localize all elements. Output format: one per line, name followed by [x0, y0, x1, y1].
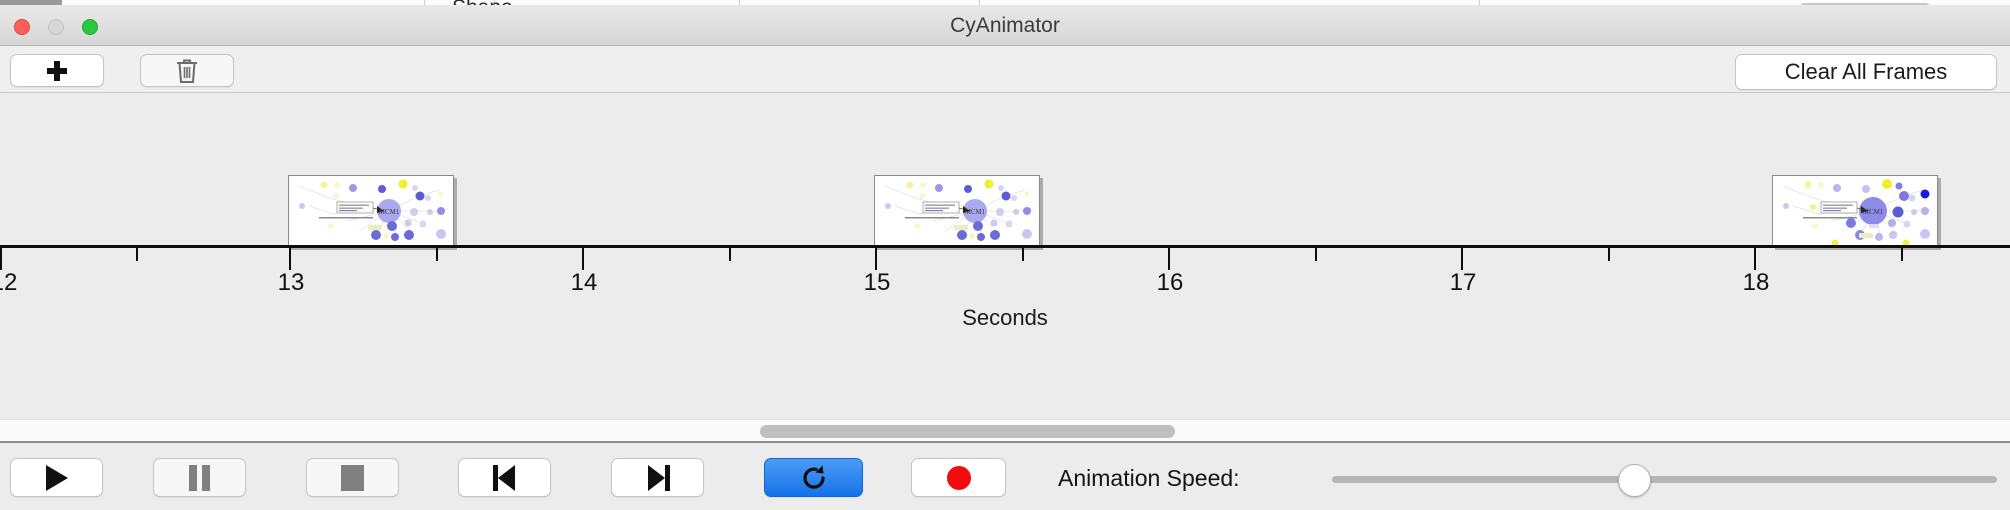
axis-major-tick	[1754, 248, 1756, 270]
skip-end-icon	[646, 465, 670, 491]
axis-minor-tick	[729, 248, 731, 261]
axis-major-tick	[289, 248, 291, 270]
axis-minor-tick	[1901, 248, 1903, 261]
trash-icon	[176, 58, 198, 84]
axis-tick-label: 18	[1743, 269, 1770, 297]
record-button[interactable]	[911, 458, 1006, 497]
animation-speed-slider-thumb[interactable]	[1618, 464, 1651, 497]
svg-text:MCM1: MCM1	[1863, 208, 1884, 216]
clear-all-frames-button[interactable]: Clear All Frames	[1735, 54, 1997, 90]
animation-speed-label: Animation Speed:	[1058, 465, 1240, 492]
skip-start-icon	[493, 465, 517, 491]
network-graph-thumbnail: MCM1	[875, 176, 1039, 246]
play-icon	[46, 465, 68, 491]
network-graph-thumbnail: MCM1	[289, 176, 453, 246]
window-title: CyAnimator	[0, 5, 2010, 46]
skip-end-button[interactable]	[611, 458, 704, 497]
pause-button[interactable]	[153, 458, 246, 497]
loop-icon	[800, 464, 828, 492]
timeline-frame-thumbnail[interactable]: MCM1	[1772, 175, 1938, 247]
axis-major-tick	[1461, 248, 1463, 270]
axis-minor-tick	[1608, 248, 1610, 261]
axis-major-tick	[1168, 248, 1170, 270]
axis-tick-label: 15	[864, 269, 891, 297]
network-graph-thumbnail: MCM1	[1773, 176, 1937, 246]
stop-button[interactable]	[306, 458, 399, 497]
titlebar: CyAnimator	[0, 5, 2010, 46]
svg-text:MCM1: MCM1	[965, 208, 986, 216]
axis-tick-label: 12	[0, 269, 17, 297]
plus-icon	[47, 61, 67, 81]
toolbar: Clear All Frames	[0, 46, 2010, 93]
add-frame-button[interactable]	[10, 54, 104, 87]
skip-start-button[interactable]	[458, 458, 551, 497]
svg-text:MCM1: MCM1	[379, 208, 400, 216]
axis-minor-tick	[436, 248, 438, 261]
axis-minor-tick	[136, 248, 138, 261]
record-icon	[947, 466, 971, 490]
axis-minor-tick	[1315, 248, 1317, 261]
axis-tick-label: 14	[571, 269, 598, 297]
graph-tooltip	[337, 202, 384, 213]
stop-icon	[341, 465, 364, 491]
axis-minor-tick	[1022, 248, 1024, 261]
cyanimator-window: CyAnimator Clear All Frames	[0, 5, 2010, 510]
axis-title: Seconds	[0, 305, 2010, 331]
axis-major-tick	[875, 248, 877, 270]
timeline-frame-thumbnail[interactable]: MCM1	[288, 175, 454, 247]
animation-speed-slider-track[interactable]	[1332, 476, 1997, 483]
delete-frame-button[interactable]	[140, 54, 234, 87]
playback-bar: Animation Speed:	[0, 443, 2010, 510]
timeline-panel[interactable]: MCM1	[0, 93, 2010, 411]
axis-tick-label: 13	[278, 269, 305, 297]
play-button[interactable]	[10, 458, 103, 497]
axis-tick-label: 16	[1157, 269, 1184, 297]
axis-tick-label: 17	[1450, 269, 1477, 297]
axis-major-tick	[0, 248, 2, 270]
pause-icon	[189, 465, 210, 491]
axis-major-tick	[582, 248, 584, 270]
graph-tooltip	[923, 202, 970, 213]
loop-button[interactable]	[764, 458, 863, 497]
timeline-axis-line	[0, 245, 2010, 248]
timeline-frame-thumbnail[interactable]: MCM1	[874, 175, 1040, 247]
timeline-scrollbar[interactable]	[0, 419, 2010, 443]
timeline-scrollbar-thumb[interactable]	[760, 425, 1175, 438]
